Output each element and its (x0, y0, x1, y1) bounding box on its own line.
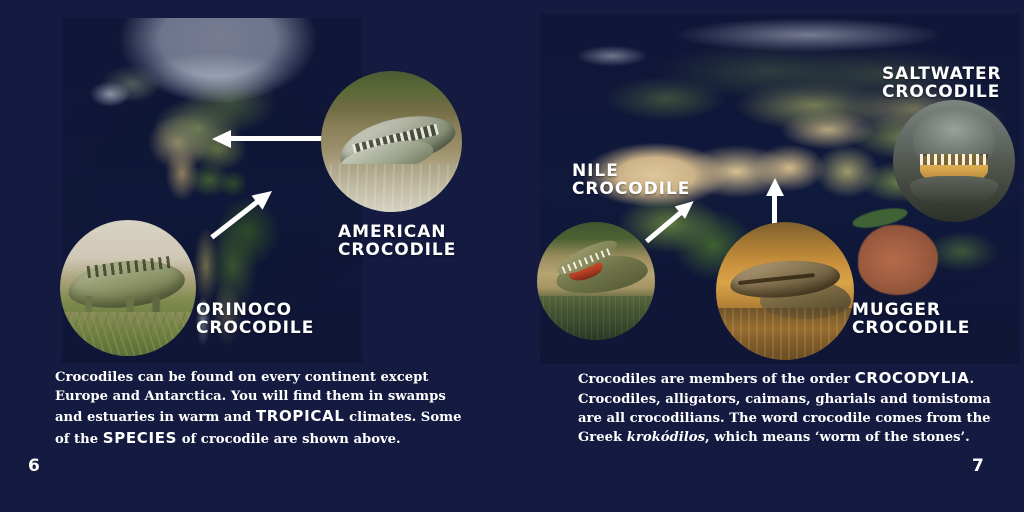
photo-scene (321, 71, 462, 212)
nile-crocodile-photo (537, 222, 655, 340)
paragraph-part-3: of crocodile are shown above. (177, 432, 401, 447)
label-line-2: CROCODILE (338, 240, 456, 260)
water-surface (537, 296, 655, 340)
label-line-2: CROCODILE (852, 318, 970, 338)
left-page: AMERICAN CROCODILE ORINOCO CROCODILE Cro… (0, 0, 512, 512)
emphasis-tropical: TROPICAL (256, 407, 345, 425)
book-spread: AMERICAN CROCODILE ORINOCO CROCODILE Cro… (0, 0, 1024, 512)
emphasis-crocodylia: CROCODYLIA (855, 369, 970, 387)
page-number-right: 7 (972, 456, 984, 476)
label-american-crocodile: AMERICAN CROCODILE (338, 224, 456, 260)
mugger-crocodile-arrow-icon (766, 178, 784, 226)
photo-scene (60, 220, 196, 356)
american-crocodile-photo (321, 71, 462, 212)
photo-scene (537, 222, 655, 340)
label-saltwater-crocodile: SALTWATER CROCODILE (882, 66, 1002, 102)
page-number-left: 6 (28, 456, 40, 476)
label-nile-crocodile: NILE CROCODILE (572, 163, 690, 199)
american-crocodile-arrow-icon (212, 130, 330, 148)
crocodile-lower-jaw (910, 176, 998, 208)
crocodile-teeth (920, 154, 988, 165)
greek-word-krokodilos: krokódilos (627, 430, 705, 445)
label-line-2: CROCODILE (882, 82, 1000, 102)
saltwater-crocodile-photo (893, 100, 1015, 222)
paragraph-part-1: Crocodiles are members of the order (578, 372, 855, 387)
arrow-shaft (229, 136, 330, 141)
label-line-2: CROCODILE (196, 318, 314, 338)
photo-scene (893, 100, 1015, 222)
label-orinoco-crocodile: ORINOCO CROCODILE (196, 302, 314, 338)
left-page-paragraph: Crocodiles can be found on every contine… (55, 368, 475, 450)
right-page-paragraph: Crocodiles are members of the order CROC… (578, 368, 998, 447)
emphasis-species: SPECIES (103, 429, 177, 447)
water-reflection (716, 308, 854, 360)
orinoco-crocodile-photo (60, 220, 196, 356)
mugger-crocodile-photo (716, 222, 854, 360)
photo-scene (716, 222, 854, 360)
australia-landmass (858, 225, 938, 295)
water-surface (321, 164, 462, 212)
label-line-2: CROCODILE (572, 179, 690, 199)
paragraph-part-3: , which means ‘worm of the stones’. (705, 430, 970, 445)
label-mugger-crocodile: MUGGER CROCODILE (852, 302, 970, 338)
grass-ground (60, 312, 196, 356)
